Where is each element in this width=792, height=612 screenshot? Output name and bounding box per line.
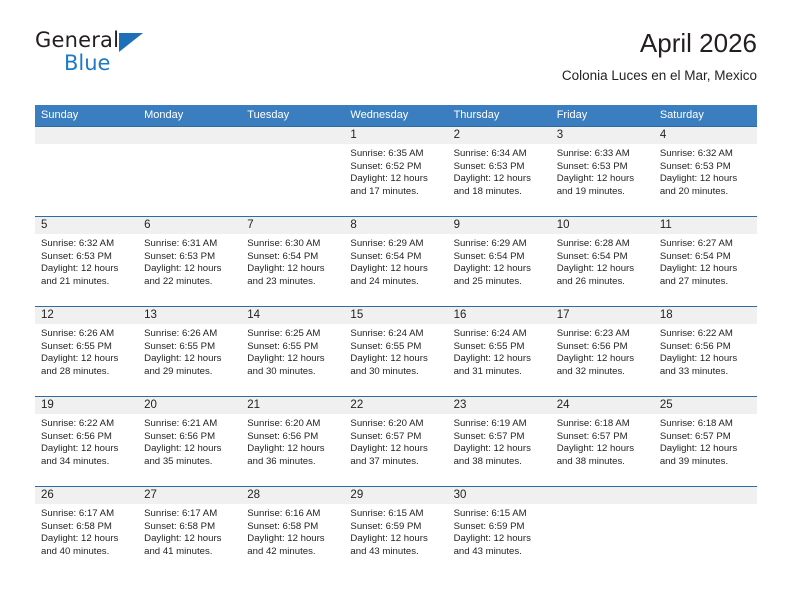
day-cell[interactable]: 10 Sunrise: 6:28 AM Sunset: 6:54 PM Dayl…: [551, 217, 654, 306]
day-number: 24: [551, 397, 654, 414]
sunrise-text: Sunrise: 6:32 AM: [41, 238, 132, 251]
day-cell[interactable]: 27 Sunrise: 6:17 AM Sunset: 6:58 PM Dayl…: [138, 487, 241, 576]
weekday-monday: Monday: [138, 105, 241, 126]
daylight-text-line2: and 38 minutes.: [454, 456, 545, 469]
daylight-text-line1: Daylight: 12 hours: [144, 353, 235, 366]
day-number: [551, 487, 654, 504]
daylight-text-line2: and 38 minutes.: [557, 456, 648, 469]
daylight-text-line2: and 28 minutes.: [41, 366, 132, 379]
logo-text-general: General: [35, 28, 119, 52]
generalblue-logo: General Blue: [35, 28, 235, 84]
sunrise-text: Sunrise: 6:29 AM: [350, 238, 441, 251]
day-details: [241, 144, 344, 148]
week-row: 12 Sunrise: 6:26 AM Sunset: 6:55 PM Dayl…: [35, 306, 757, 396]
daylight-text-line1: Daylight: 12 hours: [557, 173, 648, 186]
sunset-text: Sunset: 6:55 PM: [454, 341, 545, 354]
daylight-text-line1: Daylight: 12 hours: [454, 173, 545, 186]
day-details: Sunrise: 6:20 AM Sunset: 6:56 PM Dayligh…: [241, 414, 344, 468]
day-details: Sunrise: 6:17 AM Sunset: 6:58 PM Dayligh…: [35, 504, 138, 558]
day-number: 15: [344, 307, 447, 324]
day-number: 25: [654, 397, 757, 414]
day-details: Sunrise: 6:23 AM Sunset: 6:56 PM Dayligh…: [551, 324, 654, 378]
sunset-text: Sunset: 6:57 PM: [454, 431, 545, 444]
sunrise-text: Sunrise: 6:22 AM: [660, 328, 751, 341]
sunset-text: Sunset: 6:56 PM: [557, 341, 648, 354]
daylight-text-line1: Daylight: 12 hours: [247, 263, 338, 276]
sunrise-text: Sunrise: 6:24 AM: [350, 328, 441, 341]
day-number: 22: [344, 397, 447, 414]
weekday-sunday: Sunday: [35, 105, 138, 126]
day-details: Sunrise: 6:32 AM Sunset: 6:53 PM Dayligh…: [654, 144, 757, 198]
daylight-text-line2: and 19 minutes.: [557, 186, 648, 199]
day-cell[interactable]: 20 Sunrise: 6:21 AM Sunset: 6:56 PM Dayl…: [138, 397, 241, 486]
daylight-text-line1: Daylight: 12 hours: [557, 443, 648, 456]
day-cell[interactable]: 6 Sunrise: 6:31 AM Sunset: 6:53 PM Dayli…: [138, 217, 241, 306]
daylight-text-line1: Daylight: 12 hours: [660, 443, 751, 456]
day-cell[interactable]: 1 Sunrise: 6:35 AM Sunset: 6:52 PM Dayli…: [344, 127, 447, 216]
sunset-text: Sunset: 6:54 PM: [350, 251, 441, 264]
sunset-text: Sunset: 6:59 PM: [454, 521, 545, 534]
sunset-text: Sunset: 6:54 PM: [557, 251, 648, 264]
day-details: Sunrise: 6:33 AM Sunset: 6:53 PM Dayligh…: [551, 144, 654, 198]
day-number: 11: [654, 217, 757, 234]
sunset-text: Sunset: 6:56 PM: [144, 431, 235, 444]
sunrise-text: Sunrise: 6:33 AM: [557, 148, 648, 161]
day-number: 21: [241, 397, 344, 414]
daylight-text-line2: and 43 minutes.: [454, 546, 545, 559]
day-cell[interactable]: 25 Sunrise: 6:18 AM Sunset: 6:57 PM Dayl…: [654, 397, 757, 486]
daylight-text-line2: and 39 minutes.: [660, 456, 751, 469]
sunrise-text: Sunrise: 6:21 AM: [144, 418, 235, 431]
day-cell[interactable]: 28 Sunrise: 6:16 AM Sunset: 6:58 PM Dayl…: [241, 487, 344, 576]
daylight-text-line1: Daylight: 12 hours: [660, 353, 751, 366]
day-cell[interactable]: 15 Sunrise: 6:24 AM Sunset: 6:55 PM Dayl…: [344, 307, 447, 396]
sunrise-text: Sunrise: 6:26 AM: [144, 328, 235, 341]
sunset-text: Sunset: 6:54 PM: [247, 251, 338, 264]
day-number: 12: [35, 307, 138, 324]
weekday-header-row: Sunday Monday Tuesday Wednesday Thursday…: [35, 105, 757, 126]
page-title: April 2026: [562, 28, 757, 58]
day-details: Sunrise: 6:16 AM Sunset: 6:58 PM Dayligh…: [241, 504, 344, 558]
day-details: Sunrise: 6:28 AM Sunset: 6:54 PM Dayligh…: [551, 234, 654, 288]
sunrise-text: Sunrise: 6:29 AM: [454, 238, 545, 251]
sunset-text: Sunset: 6:53 PM: [660, 161, 751, 174]
sunrise-text: Sunrise: 6:15 AM: [350, 508, 441, 521]
day-number: 13: [138, 307, 241, 324]
daylight-text-line2: and 43 minutes.: [350, 546, 441, 559]
daylight-text-line1: Daylight: 12 hours: [41, 353, 132, 366]
daylight-text-line2: and 40 minutes.: [41, 546, 132, 559]
daylight-text-line1: Daylight: 12 hours: [247, 533, 338, 546]
day-number: 18: [654, 307, 757, 324]
sunset-text: Sunset: 6:57 PM: [350, 431, 441, 444]
day-cell[interactable]: [551, 487, 654, 576]
day-number: 29: [344, 487, 447, 504]
day-number: 3: [551, 127, 654, 144]
day-details: Sunrise: 6:26 AM Sunset: 6:55 PM Dayligh…: [138, 324, 241, 378]
sunrise-text: Sunrise: 6:17 AM: [41, 508, 132, 521]
daylight-text-line2: and 34 minutes.: [41, 456, 132, 469]
sunrise-text: Sunrise: 6:34 AM: [454, 148, 545, 161]
sunset-text: Sunset: 6:57 PM: [557, 431, 648, 444]
day-number: 6: [138, 217, 241, 234]
day-details: Sunrise: 6:21 AM Sunset: 6:56 PM Dayligh…: [138, 414, 241, 468]
day-number: [241, 127, 344, 144]
sunset-text: Sunset: 6:55 PM: [144, 341, 235, 354]
sunrise-text: Sunrise: 6:18 AM: [557, 418, 648, 431]
daylight-text-line2: and 25 minutes.: [454, 276, 545, 289]
day-number: 30: [448, 487, 551, 504]
daylight-text-line1: Daylight: 12 hours: [41, 263, 132, 276]
sunrise-text: Sunrise: 6:20 AM: [247, 418, 338, 431]
day-number: 10: [551, 217, 654, 234]
day-cell[interactable]: 30 Sunrise: 6:15 AM Sunset: 6:59 PM Dayl…: [448, 487, 551, 576]
daylight-text-line1: Daylight: 12 hours: [454, 353, 545, 366]
day-details: Sunrise: 6:26 AM Sunset: 6:55 PM Dayligh…: [35, 324, 138, 378]
sunset-text: Sunset: 6:55 PM: [247, 341, 338, 354]
day-number: 16: [448, 307, 551, 324]
sunrise-text: Sunrise: 6:19 AM: [454, 418, 545, 431]
sunrise-text: Sunrise: 6:17 AM: [144, 508, 235, 521]
daylight-text-line2: and 31 minutes.: [454, 366, 545, 379]
day-number: 20: [138, 397, 241, 414]
week-row: 26 Sunrise: 6:17 AM Sunset: 6:58 PM Dayl…: [35, 486, 757, 576]
daylight-text-line1: Daylight: 12 hours: [350, 263, 441, 276]
day-details: Sunrise: 6:24 AM Sunset: 6:55 PM Dayligh…: [344, 324, 447, 378]
day-details: Sunrise: 6:19 AM Sunset: 6:57 PM Dayligh…: [448, 414, 551, 468]
daylight-text-line2: and 22 minutes.: [144, 276, 235, 289]
day-cell[interactable]: 7 Sunrise: 6:30 AM Sunset: 6:54 PM Dayli…: [241, 217, 344, 306]
day-number: 17: [551, 307, 654, 324]
day-cell[interactable]: 11 Sunrise: 6:27 AM Sunset: 6:54 PM Dayl…: [654, 217, 757, 306]
sunset-text: Sunset: 6:56 PM: [660, 341, 751, 354]
day-cell[interactable]: [241, 127, 344, 216]
day-details: Sunrise: 6:32 AM Sunset: 6:53 PM Dayligh…: [35, 234, 138, 288]
sunrise-text: Sunrise: 6:18 AM: [660, 418, 751, 431]
day-cell[interactable]: 2 Sunrise: 6:34 AM Sunset: 6:53 PM Dayli…: [448, 127, 551, 216]
day-cell[interactable]: 13 Sunrise: 6:26 AM Sunset: 6:55 PM Dayl…: [138, 307, 241, 396]
day-details: Sunrise: 6:18 AM Sunset: 6:57 PM Dayligh…: [654, 414, 757, 468]
daylight-text-line2: and 41 minutes.: [144, 546, 235, 559]
day-number: 7: [241, 217, 344, 234]
day-cell[interactable]: 18 Sunrise: 6:22 AM Sunset: 6:56 PM Dayl…: [654, 307, 757, 396]
day-cell[interactable]: 4 Sunrise: 6:32 AM Sunset: 6:53 PM Dayli…: [654, 127, 757, 216]
daylight-text-line2: and 30 minutes.: [350, 366, 441, 379]
daylight-text-line2: and 32 minutes.: [557, 366, 648, 379]
day-number: 14: [241, 307, 344, 324]
daylight-text-line1: Daylight: 12 hours: [557, 263, 648, 276]
day-details: Sunrise: 6:22 AM Sunset: 6:56 PM Dayligh…: [654, 324, 757, 378]
daylight-text-line2: and 37 minutes.: [350, 456, 441, 469]
day-cell[interactable]: 9 Sunrise: 6:29 AM Sunset: 6:54 PM Dayli…: [448, 217, 551, 306]
day-details: [654, 504, 757, 508]
daylight-text-line2: and 29 minutes.: [144, 366, 235, 379]
page-subtitle: Colonia Luces en el Mar, Mexico: [562, 68, 757, 84]
sunset-text: Sunset: 6:56 PM: [41, 431, 132, 444]
daylight-text-line1: Daylight: 12 hours: [144, 443, 235, 456]
sunset-text: Sunset: 6:52 PM: [350, 161, 441, 174]
day-cell[interactable]: 24 Sunrise: 6:18 AM Sunset: 6:57 PM Dayl…: [551, 397, 654, 486]
daylight-text-line2: and 30 minutes.: [247, 366, 338, 379]
day-cell[interactable]: 3 Sunrise: 6:33 AM Sunset: 6:53 PM Dayli…: [551, 127, 654, 216]
sunrise-text: Sunrise: 6:27 AM: [660, 238, 751, 251]
day-cell[interactable]: 21 Sunrise: 6:20 AM Sunset: 6:56 PM Dayl…: [241, 397, 344, 486]
sunrise-text: Sunrise: 6:25 AM: [247, 328, 338, 341]
day-details: Sunrise: 6:20 AM Sunset: 6:57 PM Dayligh…: [344, 414, 447, 468]
title-block: April 2026 Colonia Luces en el Mar, Mexi…: [562, 28, 757, 84]
day-details: [35, 144, 138, 148]
daylight-text-line2: and 21 minutes.: [41, 276, 132, 289]
sunset-text: Sunset: 6:53 PM: [41, 251, 132, 264]
day-number: [35, 127, 138, 144]
day-details: Sunrise: 6:22 AM Sunset: 6:56 PM Dayligh…: [35, 414, 138, 468]
day-details: [551, 504, 654, 508]
sunset-text: Sunset: 6:55 PM: [41, 341, 132, 354]
logo-text-blue: Blue: [64, 51, 110, 75]
sunrise-text: Sunrise: 6:15 AM: [454, 508, 545, 521]
day-number: 9: [448, 217, 551, 234]
sunset-text: Sunset: 6:53 PM: [454, 161, 545, 174]
day-number: 26: [35, 487, 138, 504]
daylight-text-line1: Daylight: 12 hours: [350, 173, 441, 186]
daylight-text-line1: Daylight: 12 hours: [660, 263, 751, 276]
daylight-text-line1: Daylight: 12 hours: [350, 533, 441, 546]
daylight-text-line2: and 20 minutes.: [660, 186, 751, 199]
day-details: Sunrise: 6:18 AM Sunset: 6:57 PM Dayligh…: [551, 414, 654, 468]
day-number: 1: [344, 127, 447, 144]
sunset-text: Sunset: 6:58 PM: [144, 521, 235, 534]
sunrise-text: Sunrise: 6:32 AM: [660, 148, 751, 161]
day-cell[interactable]: 22 Sunrise: 6:20 AM Sunset: 6:57 PM Dayl…: [344, 397, 447, 486]
sunset-text: Sunset: 6:58 PM: [247, 521, 338, 534]
daylight-text-line2: and 33 minutes.: [660, 366, 751, 379]
daylight-text-line1: Daylight: 12 hours: [41, 443, 132, 456]
day-number: 4: [654, 127, 757, 144]
daylight-text-line2: and 24 minutes.: [350, 276, 441, 289]
daylight-text-line1: Daylight: 12 hours: [144, 533, 235, 546]
day-cell[interactable]: 17 Sunrise: 6:23 AM Sunset: 6:56 PM Dayl…: [551, 307, 654, 396]
sunset-text: Sunset: 6:55 PM: [350, 341, 441, 354]
sunset-text: Sunset: 6:53 PM: [144, 251, 235, 264]
sunset-text: Sunset: 6:54 PM: [660, 251, 751, 264]
daylight-text-line1: Daylight: 12 hours: [660, 173, 751, 186]
day-details: Sunrise: 6:34 AM Sunset: 6:53 PM Dayligh…: [448, 144, 551, 198]
day-details: Sunrise: 6:27 AM Sunset: 6:54 PM Dayligh…: [654, 234, 757, 288]
week-row: 5 Sunrise: 6:32 AM Sunset: 6:53 PM Dayli…: [35, 216, 757, 306]
day-cell[interactable]: 19 Sunrise: 6:22 AM Sunset: 6:56 PM Dayl…: [35, 397, 138, 486]
daylight-text-line1: Daylight: 12 hours: [350, 443, 441, 456]
weekday-tuesday: Tuesday: [241, 105, 344, 126]
day-cell[interactable]: 23 Sunrise: 6:19 AM Sunset: 6:57 PM Dayl…: [448, 397, 551, 486]
page-header: General Blue April 2026 Colonia Luces en…: [35, 28, 757, 100]
calendar-grid: Sunday Monday Tuesday Wednesday Thursday…: [35, 105, 757, 576]
weekday-thursday: Thursday: [448, 105, 551, 126]
daylight-text-line1: Daylight: 12 hours: [454, 263, 545, 276]
sunset-text: Sunset: 6:53 PM: [557, 161, 648, 174]
daylight-text-line1: Daylight: 12 hours: [41, 533, 132, 546]
day-number: 2: [448, 127, 551, 144]
day-number: [138, 127, 241, 144]
day-details: Sunrise: 6:29 AM Sunset: 6:54 PM Dayligh…: [344, 234, 447, 288]
weekday-friday: Friday: [551, 105, 654, 126]
daylight-text-line2: and 17 minutes.: [350, 186, 441, 199]
day-details: Sunrise: 6:25 AM Sunset: 6:55 PM Dayligh…: [241, 324, 344, 378]
daylight-text-line1: Daylight: 12 hours: [247, 443, 338, 456]
day-details: Sunrise: 6:17 AM Sunset: 6:58 PM Dayligh…: [138, 504, 241, 558]
day-number: 27: [138, 487, 241, 504]
day-cell[interactable]: 16 Sunrise: 6:24 AM Sunset: 6:55 PM Dayl…: [448, 307, 551, 396]
sunrise-text: Sunrise: 6:31 AM: [144, 238, 235, 251]
day-details: Sunrise: 6:15 AM Sunset: 6:59 PM Dayligh…: [344, 504, 447, 558]
daylight-text-line2: and 35 minutes.: [144, 456, 235, 469]
day-cell[interactable]: 12 Sunrise: 6:26 AM Sunset: 6:55 PM Dayl…: [35, 307, 138, 396]
day-cell[interactable]: 14 Sunrise: 6:25 AM Sunset: 6:55 PM Dayl…: [241, 307, 344, 396]
sunrise-text: Sunrise: 6:24 AM: [454, 328, 545, 341]
logo-triangle-icon: [119, 33, 143, 52]
day-details: [138, 144, 241, 148]
day-number: 23: [448, 397, 551, 414]
sunset-text: Sunset: 6:59 PM: [350, 521, 441, 534]
sunset-text: Sunset: 6:56 PM: [247, 431, 338, 444]
daylight-text-line2: and 23 minutes.: [247, 276, 338, 289]
day-number: 5: [35, 217, 138, 234]
day-details: Sunrise: 6:31 AM Sunset: 6:53 PM Dayligh…: [138, 234, 241, 288]
day-number: [654, 487, 757, 504]
daylight-text-line2: and 36 minutes.: [247, 456, 338, 469]
daylight-text-line1: Daylight: 12 hours: [454, 533, 545, 546]
daylight-text-line2: and 26 minutes.: [557, 276, 648, 289]
week-row: 1 Sunrise: 6:35 AM Sunset: 6:52 PM Dayli…: [35, 126, 757, 216]
day-cell[interactable]: 26 Sunrise: 6:17 AM Sunset: 6:58 PM Dayl…: [35, 487, 138, 576]
week-row: 19 Sunrise: 6:22 AM Sunset: 6:56 PM Dayl…: [35, 396, 757, 486]
daylight-text-line2: and 42 minutes.: [247, 546, 338, 559]
weekday-saturday: Saturday: [654, 105, 757, 126]
daylight-text-line2: and 18 minutes.: [454, 186, 545, 199]
sunrise-text: Sunrise: 6:22 AM: [41, 418, 132, 431]
daylight-text-line1: Daylight: 12 hours: [557, 353, 648, 366]
day-number: 19: [35, 397, 138, 414]
day-cell[interactable]: [138, 127, 241, 216]
day-details: Sunrise: 6:30 AM Sunset: 6:54 PM Dayligh…: [241, 234, 344, 288]
sunrise-text: Sunrise: 6:16 AM: [247, 508, 338, 521]
day-number: 8: [344, 217, 447, 234]
day-cell[interactable]: [35, 127, 138, 216]
daylight-text-line2: and 27 minutes.: [660, 276, 751, 289]
day-cell[interactable]: 5 Sunrise: 6:32 AM Sunset: 6:53 PM Dayli…: [35, 217, 138, 306]
sunrise-text: Sunrise: 6:23 AM: [557, 328, 648, 341]
sunset-text: Sunset: 6:58 PM: [41, 521, 132, 534]
calendar-page: General Blue April 2026 Colonia Luces en…: [0, 0, 792, 612]
sunrise-text: Sunrise: 6:20 AM: [350, 418, 441, 431]
day-cell[interactable]: 8 Sunrise: 6:29 AM Sunset: 6:54 PM Dayli…: [344, 217, 447, 306]
day-details: Sunrise: 6:24 AM Sunset: 6:55 PM Dayligh…: [448, 324, 551, 378]
day-details: Sunrise: 6:35 AM Sunset: 6:52 PM Dayligh…: [344, 144, 447, 198]
sunrise-text: Sunrise: 6:35 AM: [350, 148, 441, 161]
sunrise-text: Sunrise: 6:26 AM: [41, 328, 132, 341]
sunset-text: Sunset: 6:54 PM: [454, 251, 545, 264]
sunrise-text: Sunrise: 6:30 AM: [247, 238, 338, 251]
daylight-text-line1: Daylight: 12 hours: [247, 353, 338, 366]
weekday-wednesday: Wednesday: [344, 105, 447, 126]
day-cell[interactable]: [654, 487, 757, 576]
day-details: Sunrise: 6:29 AM Sunset: 6:54 PM Dayligh…: [448, 234, 551, 288]
day-cell[interactable]: 29 Sunrise: 6:15 AM Sunset: 6:59 PM Dayl…: [344, 487, 447, 576]
day-details: Sunrise: 6:15 AM Sunset: 6:59 PM Dayligh…: [448, 504, 551, 558]
sunrise-text: Sunrise: 6:28 AM: [557, 238, 648, 251]
day-number: 28: [241, 487, 344, 504]
daylight-text-line1: Daylight: 12 hours: [144, 263, 235, 276]
daylight-text-line1: Daylight: 12 hours: [350, 353, 441, 366]
sunset-text: Sunset: 6:57 PM: [660, 431, 751, 444]
daylight-text-line1: Daylight: 12 hours: [454, 443, 545, 456]
